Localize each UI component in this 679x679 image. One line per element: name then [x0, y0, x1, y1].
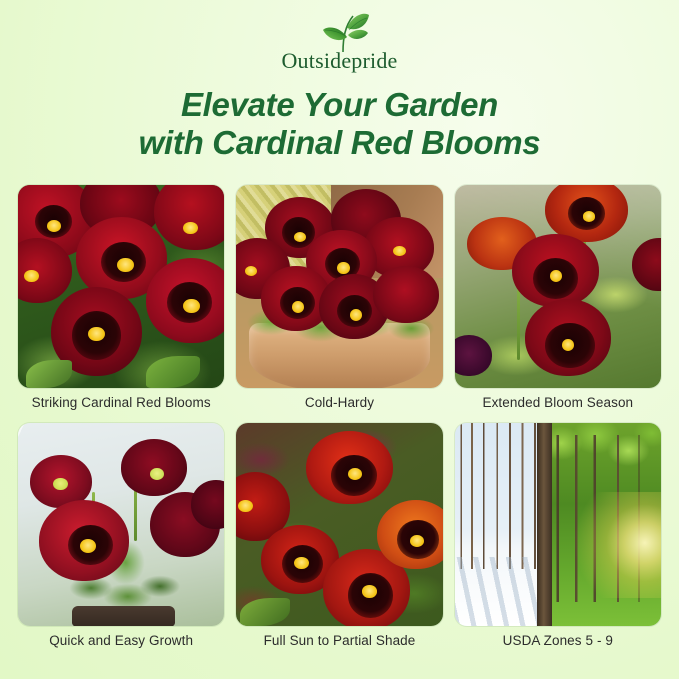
headline-line-2: with Cardinal Red Blooms — [0, 124, 679, 162]
feature-item: Extended Bloom Season — [455, 185, 661, 413]
feature-image-quick-and-easy-growth — [18, 423, 224, 626]
feature-image-striking-cardinal-red-blooms — [18, 185, 224, 388]
headline-line-1: Elevate Your Garden — [0, 86, 679, 124]
feature-image-usda-zones — [455, 423, 661, 626]
feature-caption: Extended Bloom Season — [482, 395, 633, 413]
page-title: Elevate Your Garden with Cardinal Red Bl… — [0, 86, 679, 163]
product-infographic: Outsidepride Elevate Your Garden with Ca… — [0, 0, 679, 679]
brand-wordmark: Outsidepride — [281, 50, 397, 72]
feature-item: USDA Zones 5 - 9 — [455, 423, 661, 651]
feature-image-cold-hardy — [236, 185, 442, 388]
feature-item: Full Sun to Partial Shade — [236, 423, 442, 651]
brand-header: Outsidepride — [0, 0, 679, 72]
feature-caption: Striking Cardinal Red Blooms — [32, 395, 211, 413]
feature-item: Striking Cardinal Red Blooms — [18, 185, 224, 413]
feature-caption: Cold-Hardy — [305, 395, 374, 413]
feature-caption: Full Sun to Partial Shade — [264, 633, 416, 651]
feature-image-full-sun-to-partial-shade — [236, 423, 442, 626]
feature-image-extended-bloom-season — [455, 185, 661, 388]
feature-caption: Quick and Easy Growth — [49, 633, 193, 651]
feature-caption: USDA Zones 5 - 9 — [503, 633, 613, 651]
feature-item: Cold-Hardy — [236, 185, 442, 413]
feature-gallery: Striking Cardinal Red Blooms — [18, 185, 661, 651]
feature-item: Quick and Easy Growth — [18, 423, 224, 651]
